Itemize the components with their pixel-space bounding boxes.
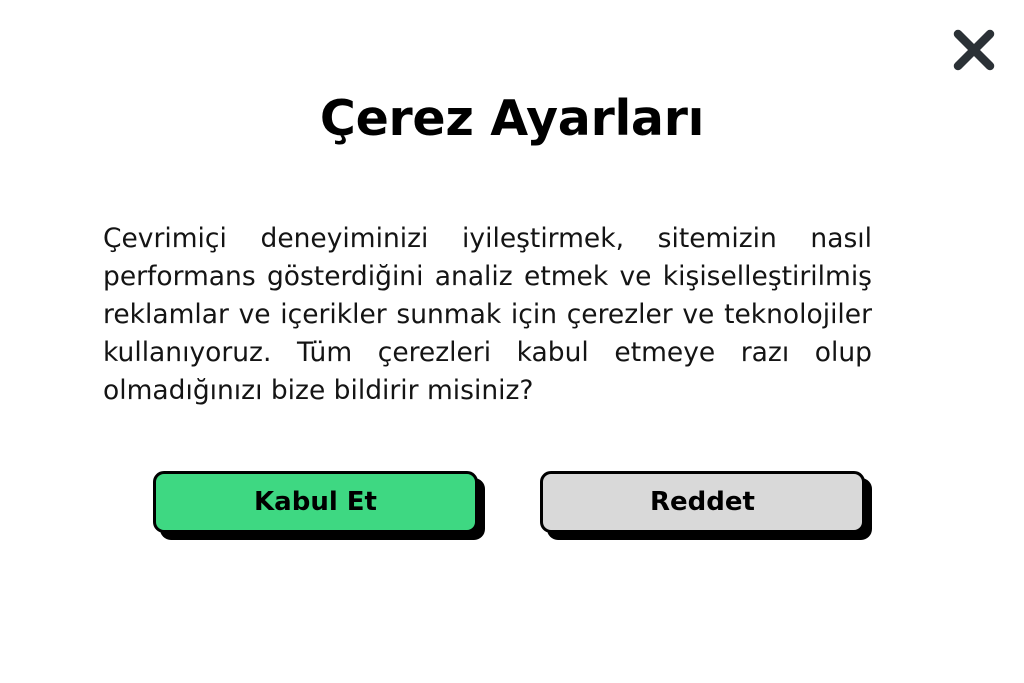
cookie-consent-dialog: Çerez Ayarları Çevrimiçi deneyiminizi iy… bbox=[0, 0, 1024, 683]
reject-button[interactable]: Reddet bbox=[540, 471, 865, 533]
page-title: Çerez Ayarları bbox=[0, 92, 1024, 147]
close-icon bbox=[951, 27, 997, 73]
consent-description: Çevrimiçi deneyiminizi iyileştirmek, sit… bbox=[103, 220, 872, 410]
dialog-actions: Kabul Et Reddet bbox=[153, 471, 878, 541]
accept-button[interactable]: Kabul Et bbox=[153, 471, 478, 533]
close-button[interactable] bbox=[946, 22, 1002, 78]
